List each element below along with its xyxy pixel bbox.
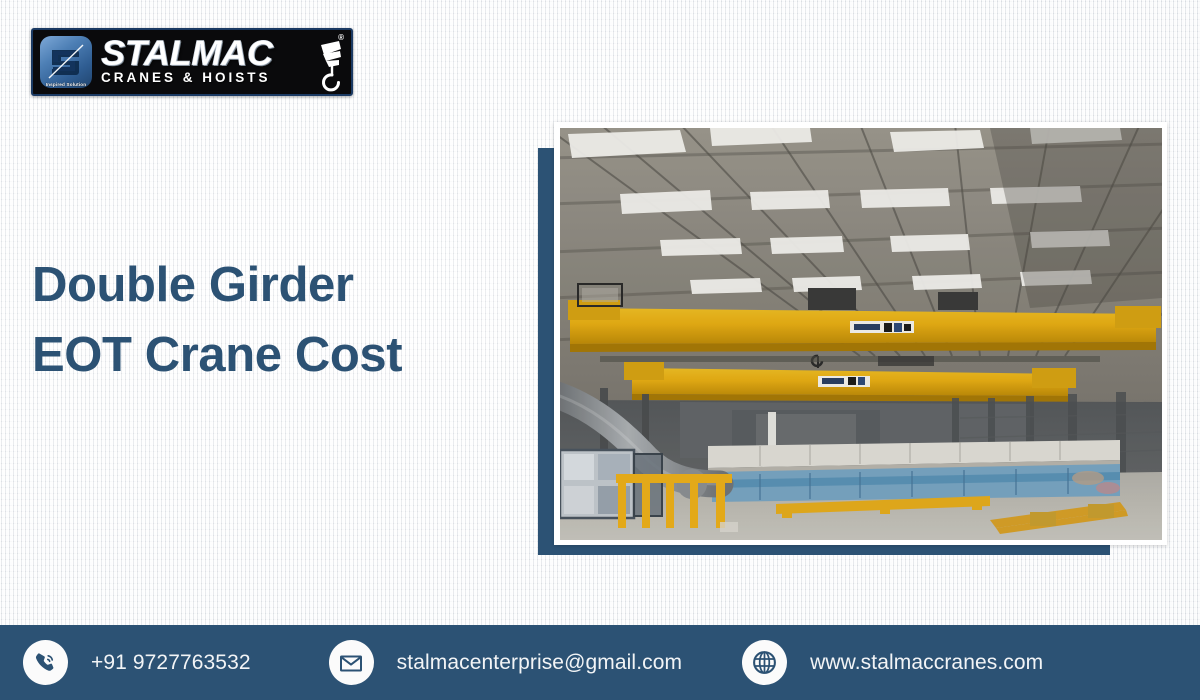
footer-contact-phone[interactable]: +91 9727763532	[23, 640, 251, 685]
logo-tagline: Inspired Solution	[40, 82, 92, 88]
stalmac-s-monogram-icon: Inspired Solution	[40, 36, 92, 88]
page-title-line-2: EOT Crane Cost	[32, 320, 402, 390]
warehouse-crane-photo	[560, 128, 1162, 540]
phone-icon	[23, 640, 68, 685]
phone-number-label: +91 9727763532	[91, 651, 251, 675]
photo-frame	[554, 122, 1167, 545]
page-title-line-1: Double Girder	[32, 258, 354, 312]
footer-contact-email[interactable]: stalmacenterprise@gmail.com	[329, 640, 682, 685]
email-address-label: stalmacenterprise@gmail.com	[397, 651, 682, 675]
contact-footer-bar: +91 9727763532 stalmacenterprise@gmail.c…	[0, 625, 1200, 700]
email-icon	[329, 640, 374, 685]
website-url-label: www.stalmaccranes.com	[810, 651, 1043, 675]
crane-hook-icon	[315, 39, 345, 95]
page-title: Double Girder EOT Crane Cost	[32, 250, 402, 390]
logo-wordmark: STALMAC CRANES & HOISTS ®	[101, 35, 343, 89]
footer-contact-website[interactable]: www.stalmaccranes.com	[742, 640, 1043, 685]
globe-icon	[742, 640, 787, 685]
brand-logo[interactable]: Inspired Solution STALMAC CRANES & HOIST…	[31, 28, 353, 96]
